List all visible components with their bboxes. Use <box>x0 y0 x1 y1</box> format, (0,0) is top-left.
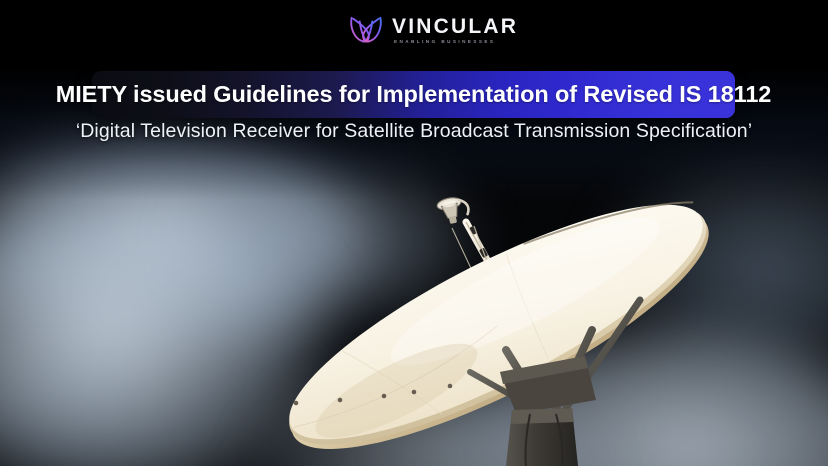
logo-text-block: VINCULAR ENABLING BUSINESSES <box>392 14 518 45</box>
logo-wordmark: VINCULAR <box>392 16 518 37</box>
vincular-butterfly-mark-icon <box>348 13 384 46</box>
logo-tagline: ENABLING BUSINESSES <box>392 40 518 45</box>
promo-banner-image: VINCULAR ENABLING BUSINESSES MIETY issue… <box>0 0 828 466</box>
headline-title: MIETY issued Guidelines for Implementati… <box>56 81 772 108</box>
vincular-logo[interactable]: VINCULAR ENABLING BUSINESSES <box>348 13 518 46</box>
headline-banner: MIETY issued Guidelines for Implementati… <box>92 71 735 118</box>
subtitle-text: ‘Digital Television Receiver for Satelli… <box>0 120 828 143</box>
